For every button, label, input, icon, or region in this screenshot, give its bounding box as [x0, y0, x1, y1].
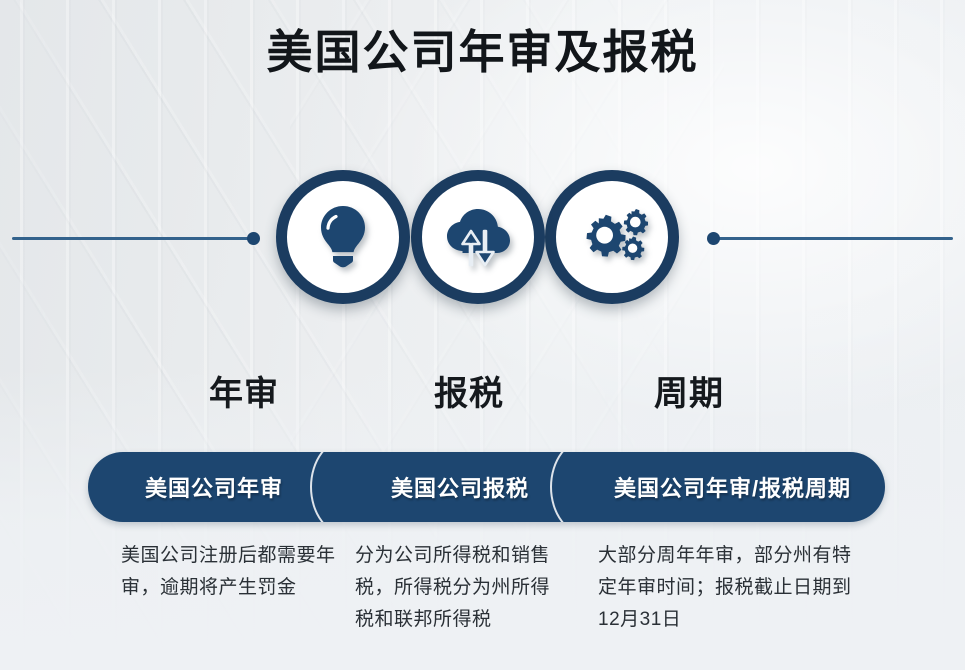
icon-circle-tax-filing[interactable] [411, 170, 545, 304]
icon-circle-group [0, 170, 965, 310]
page-title: 美国公司年审及报税 [0, 16, 965, 82]
section-headings: 年审 报税 周期 [0, 366, 965, 412]
section-heading-annual-review: 年审 [209, 366, 279, 415]
body-text-cycle: 大部分周年年审，部分州有特定年审时间；报税截止日期到12月31日 [598, 540, 853, 636]
lightbulb-icon [312, 204, 374, 270]
icon-circle-annual-review[interactable] [276, 170, 410, 304]
pill-divider-arc-1 [310, 452, 384, 522]
body-text-columns: 美国公司注册后都需要年审，逾期将产生罚金 分为公司所得税和销售税，所得税分为州所… [0, 540, 965, 650]
infographic-poster: 美国公司年审及报税 [0, 0, 965, 670]
pill-banner-bar: 美国公司年审 美国公司报税 美国公司年审/报税周期 [88, 452, 885, 522]
pill-divider-arc-2 [550, 452, 624, 522]
body-text-annual-review: 美国公司注册后都需要年审，逾期将产生罚金 [121, 540, 337, 604]
body-text-tax-filing: 分为公司所得税和销售税，所得税分为州所得税和联邦所得税 [355, 540, 567, 636]
cloud-upload-download-icon [443, 206, 513, 268]
section-heading-tax-filing: 报税 [434, 366, 504, 415]
pill-label-cycle[interactable]: 美国公司年审/报税周期 [580, 452, 885, 522]
icon-circle-cycle[interactable] [545, 170, 679, 304]
section-heading-cycle: 周期 [654, 366, 724, 415]
pill-label-annual-review[interactable]: 美国公司年审 [88, 452, 340, 522]
gears-icon [576, 205, 648, 269]
